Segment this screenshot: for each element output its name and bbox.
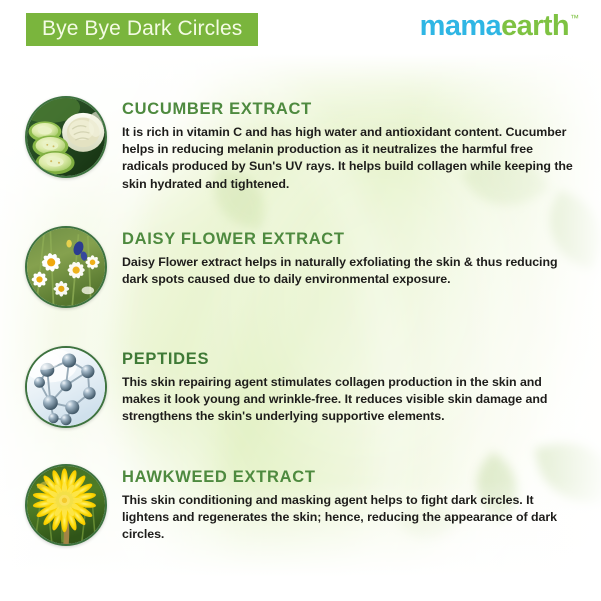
ingredient-text-cucumber-extract: CUCUMBER EXTRACT It is rich in vitamin C… (122, 100, 574, 193)
ingredient-description: Daisy Flower extract helps in naturally … (122, 254, 574, 288)
ingredient-infographic-poster: Bye Bye Dark Circles mamaearth™ (0, 0, 601, 601)
ingredient-description: It is rich in vitamin C and has high wat… (122, 124, 574, 193)
daisy-flowers-photo (25, 226, 107, 308)
hawkweed-flower-photo (25, 464, 107, 546)
cucumber-slices-photo (25, 96, 107, 178)
ingredient-title: DAISY FLOWER EXTRACT (122, 230, 574, 249)
ingredient-title: HAWKWEED EXTRACT (122, 468, 574, 487)
ingredient-list: CUCUMBER EXTRACT It is rich in vitamin C… (0, 0, 601, 601)
ingredient-title: CUCUMBER EXTRACT (122, 100, 574, 119)
ingredient-text-hawkweed-extract: HAWKWEED EXTRACT This skin conditioning … (122, 468, 574, 544)
ingredient-text-peptides: PEPTIDES This skin repairing agent stimu… (122, 350, 574, 426)
peptide-molecule-photo (25, 346, 107, 428)
ingredient-title: PEPTIDES (122, 350, 574, 369)
ingredient-text-daisy-flower-extract: DAISY FLOWER EXTRACT Daisy Flower extrac… (122, 230, 574, 288)
ingredient-description: This skin conditioning and masking agent… (122, 492, 574, 544)
ingredient-description: This skin repairing agent stimulates col… (122, 374, 574, 426)
